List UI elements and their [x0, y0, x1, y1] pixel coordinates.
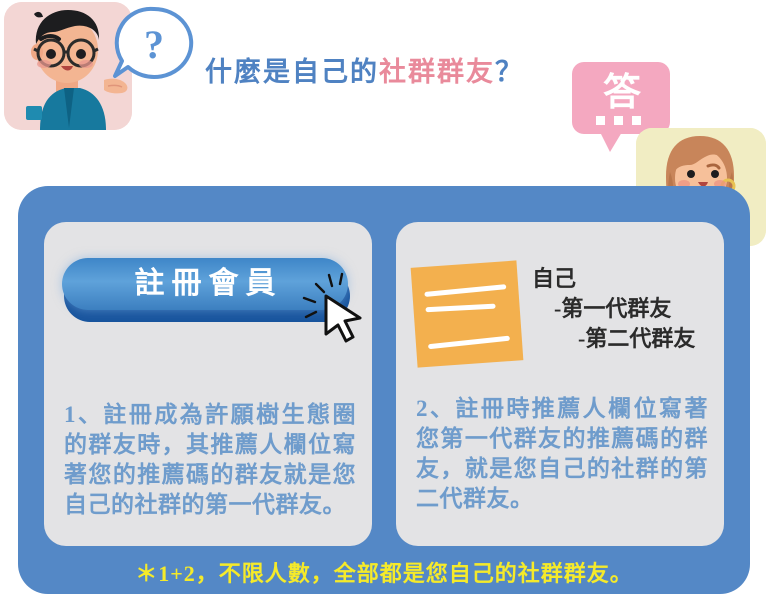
register-button[interactable]: 註冊會員: [62, 258, 352, 324]
question-speech-bubble: ?: [110, 4, 198, 92]
generation-list: 自己 -第一代群友 -第二代群友: [532, 264, 712, 354]
page-title: 什麼是自己的社群群友？: [205, 52, 565, 92]
card-step-1: 註冊會員 1、註冊成為許願樹生態圈的群友時，其推薦人欄位寫著您的推薦碼的群友就是…: [44, 222, 372, 546]
generation-item-gen2: -第二代群友: [532, 324, 712, 354]
generation-item-gen1: -第一代群友: [532, 294, 712, 324]
question-mark-label: ?: [110, 4, 198, 84]
card-1-paragraph: 1、註冊成為許願樹生態圈的群友時，其推薦人欄位寫著您的推薦碼的群友就是您自己的社…: [64, 400, 356, 520]
cursor-icon: [302, 272, 372, 346]
card-step-2: 自己 -第一代群友 -第二代群友 2、註冊時推薦人欄位寫著您第一代群友的推薦碼的…: [396, 222, 724, 546]
note-line-2: [425, 304, 495, 313]
page-title-highlight: 社群群友: [379, 57, 495, 87]
note-line-1: [424, 284, 506, 297]
page-title-part-1: 什麼是自己的: [205, 57, 379, 87]
footnote: ＊1+2，不限人數，全部都是您自己的社群群友。: [0, 556, 768, 588]
answer-char-label: 答: [570, 64, 674, 112]
note-line-3: [428, 336, 510, 350]
generation-item-self: 自己: [532, 264, 712, 294]
orange-note-icon: [411, 260, 524, 367]
card-2-paragraph: 2、註冊時推薦人欄位寫著您第一代群友的推薦碼的群友，就是您自己的社群的第二代群友…: [416, 394, 708, 514]
page-title-part-2: ？: [495, 57, 524, 87]
